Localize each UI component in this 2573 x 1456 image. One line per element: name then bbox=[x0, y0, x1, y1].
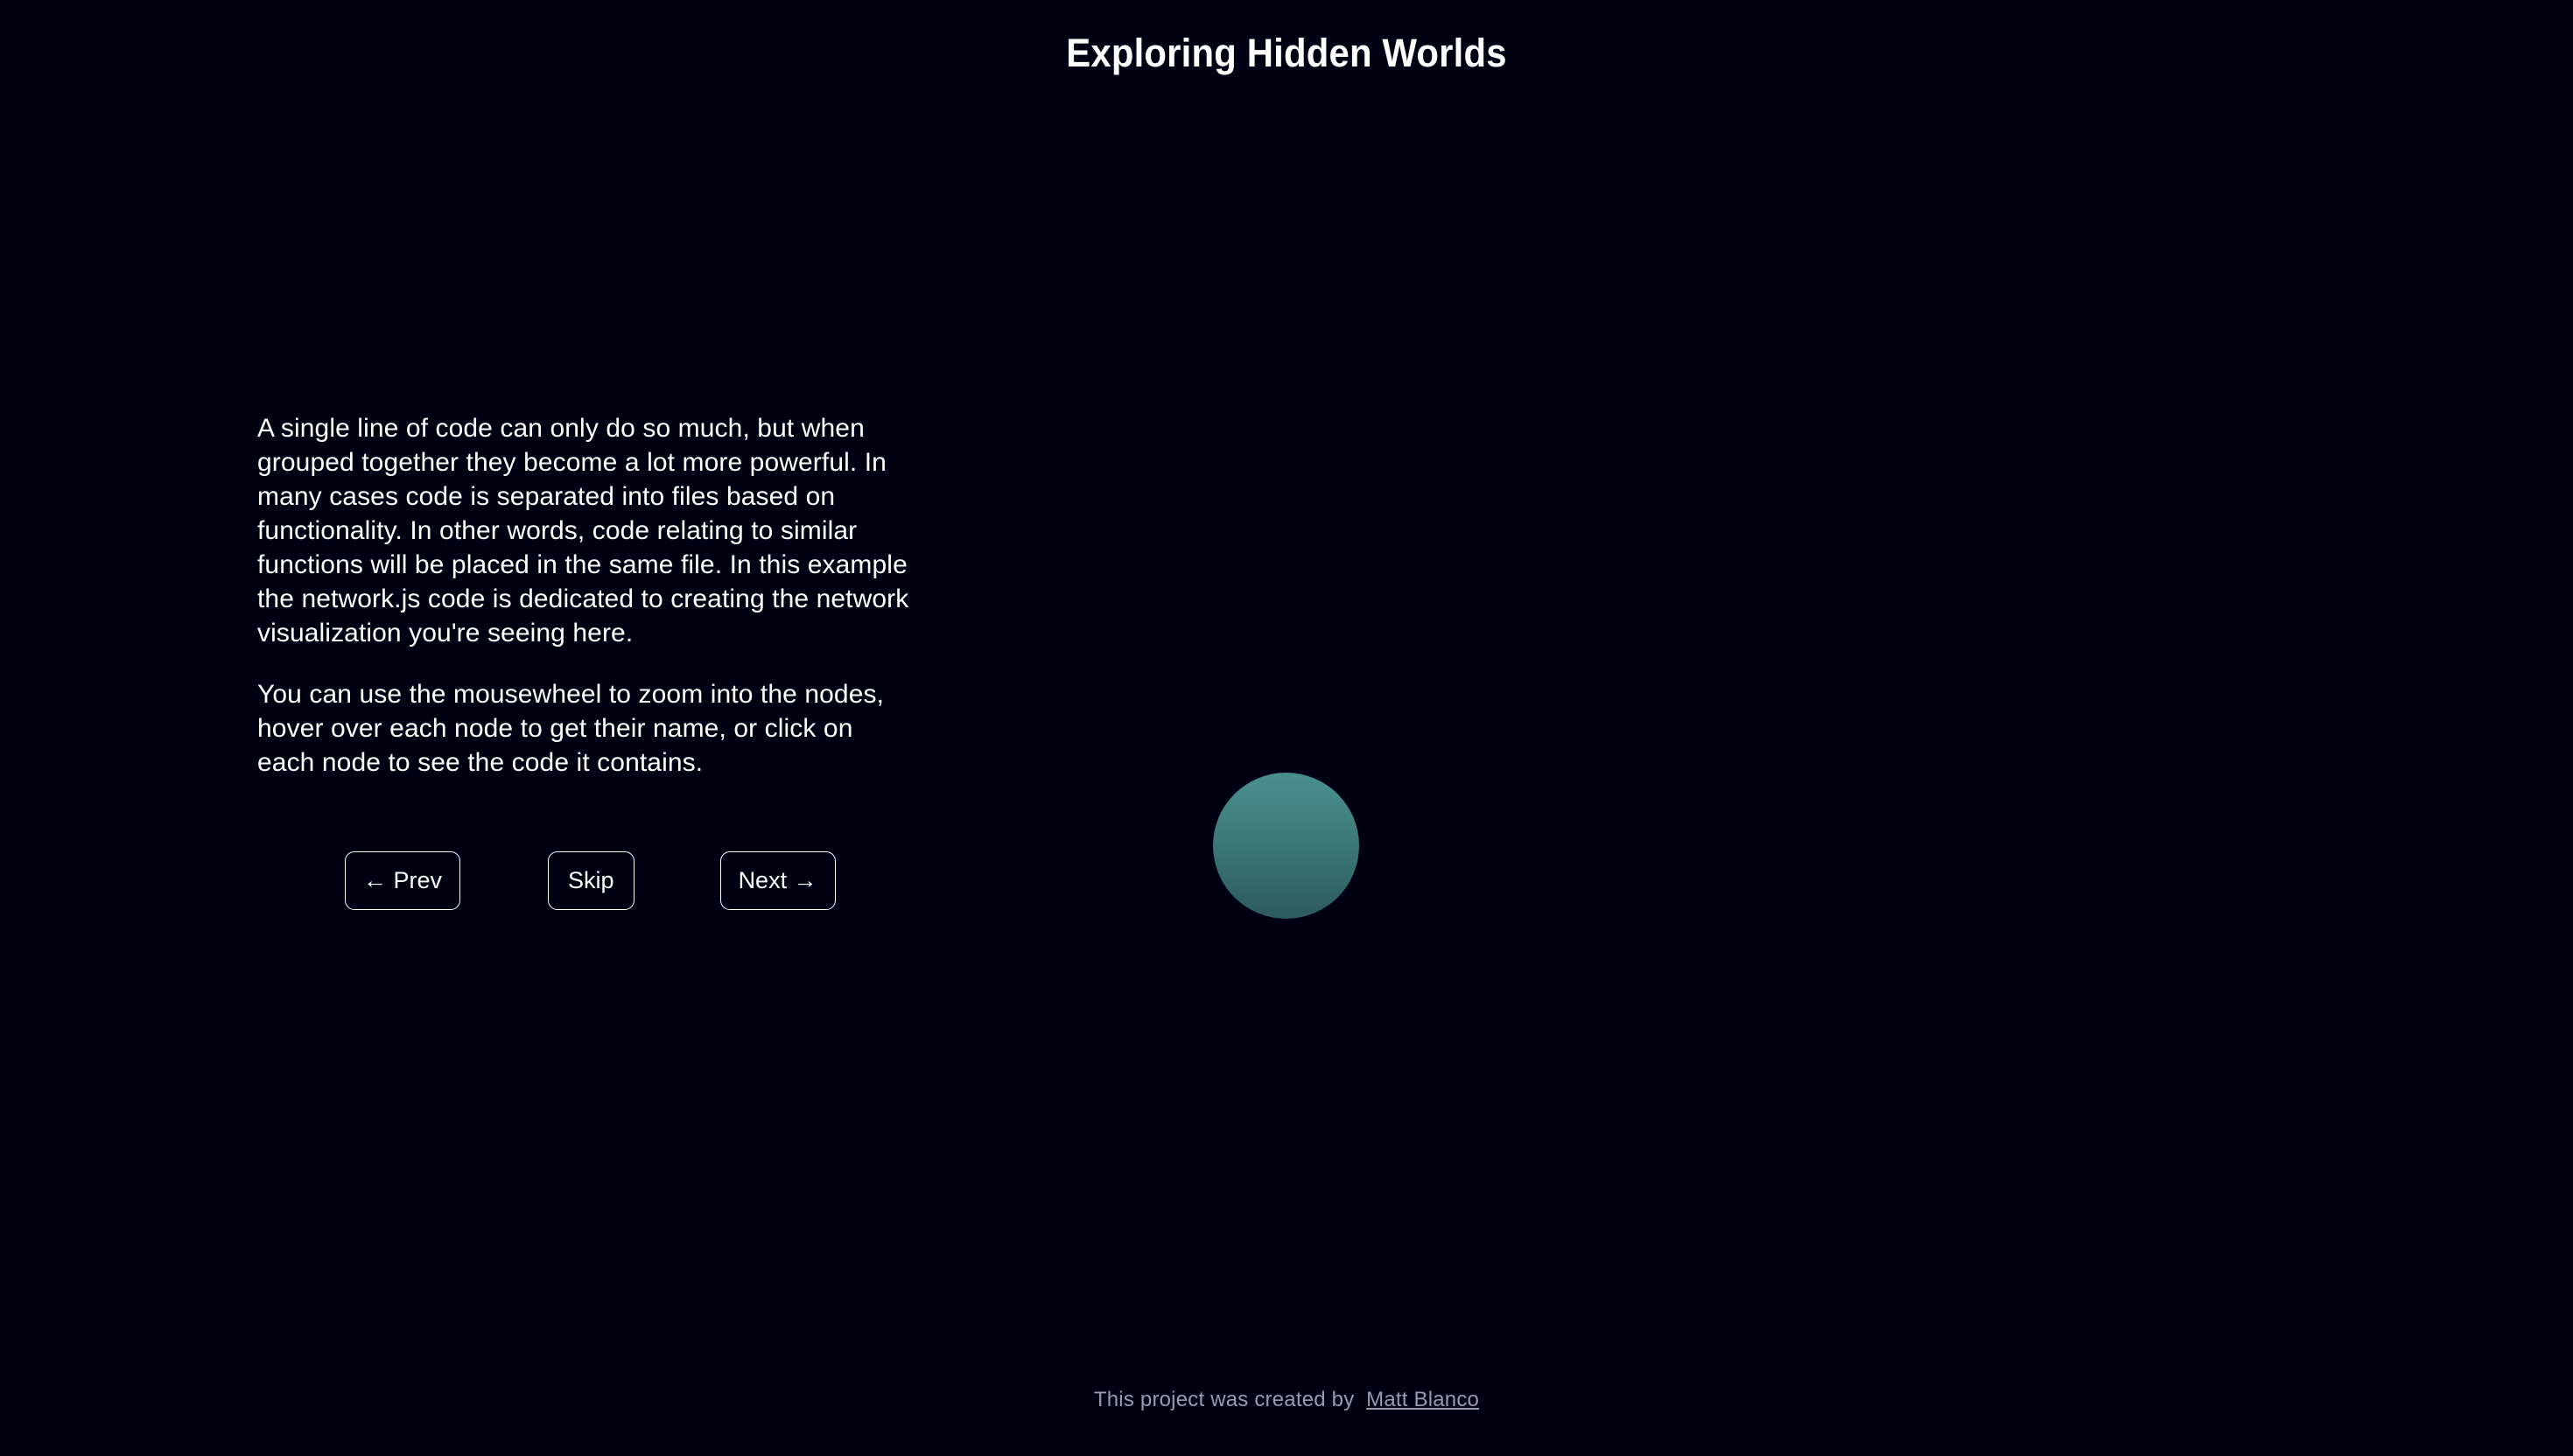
footer-credit-text: This project was created by bbox=[1094, 1388, 1355, 1411]
narration-paragraph-1: A single line of code can only do so muc… bbox=[257, 411, 909, 650]
page-title: Exploring Hidden Worlds bbox=[90, 28, 2483, 79]
footer-author-link[interactable]: Matt Blanco bbox=[1366, 1388, 1479, 1411]
skip-button[interactable]: Skip bbox=[548, 851, 634, 910]
prev-button[interactable]: ← Prev bbox=[345, 851, 460, 910]
narration-paragraph-2: You can use the mousewheel to zoom into … bbox=[257, 677, 909, 780]
network-visualization-canvas[interactable] bbox=[963, 96, 2573, 1374]
network-node-circle[interactable] bbox=[1213, 773, 1359, 919]
narration-nav-buttons: ← Prev Skip Next → bbox=[345, 851, 836, 910]
site-footer: This project was created by Matt Blanco bbox=[0, 1388, 2573, 1412]
narration-panel: A single line of code can only do so muc… bbox=[257, 411, 909, 780]
next-button[interactable]: Next → bbox=[720, 851, 836, 910]
